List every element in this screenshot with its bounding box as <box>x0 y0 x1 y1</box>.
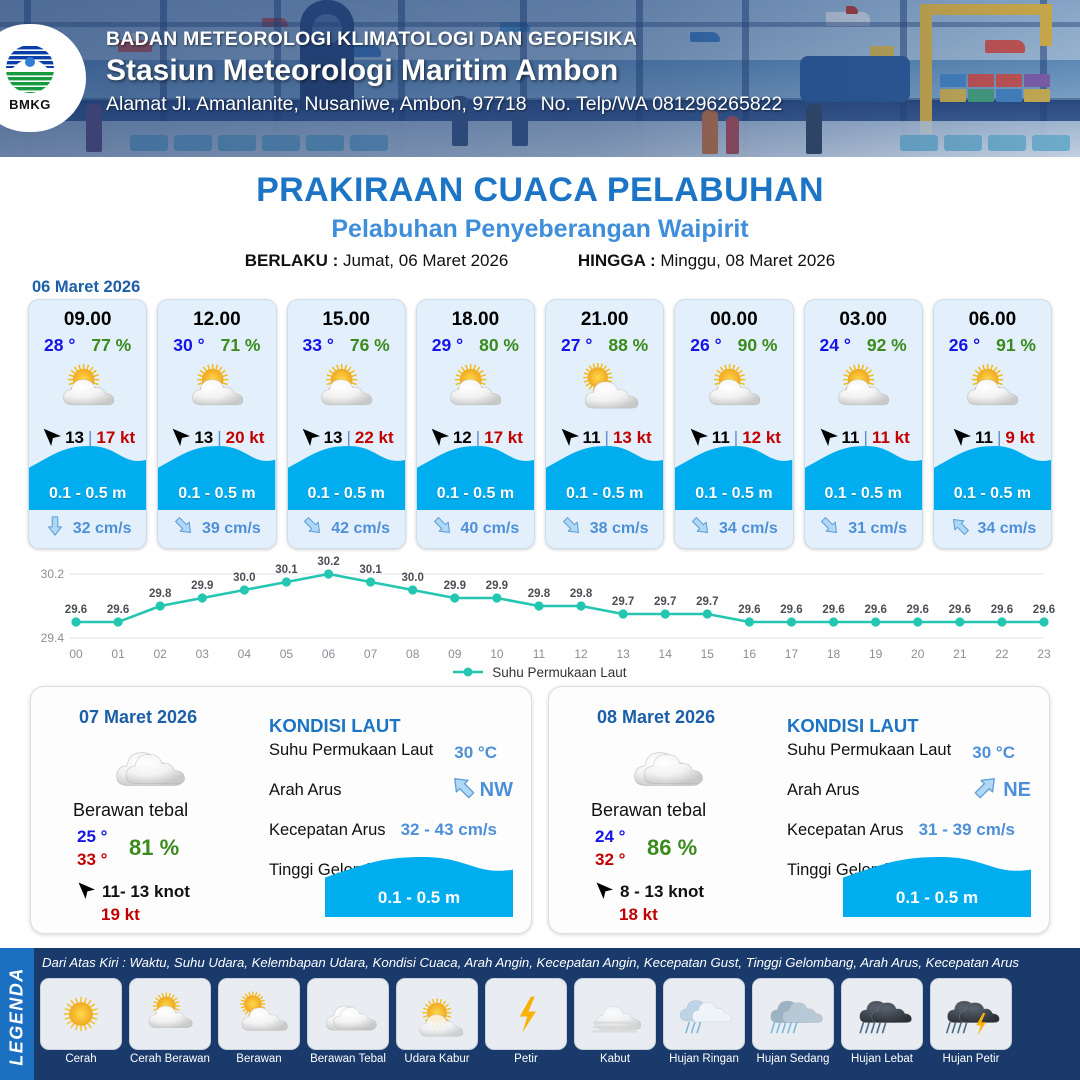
hourly-humidity: 76 % <box>350 335 390 356</box>
hourly-card: 00.0026 °90 %11|12 kt0.1 - 0.5 m34 cm/s <box>674 299 793 549</box>
kabut-icon <box>574 978 656 1050</box>
page-title: PRAKIRAAN CUACA PELABUHAN <box>0 171 1080 210</box>
legend-item-list: CerahCerah BerawanBerawanBerawan TebalUd… <box>40 978 1076 1078</box>
page-subtitle: Pelabuhan Penyeberangan Waipirit <box>0 215 1080 244</box>
chart-data-point <box>1039 617 1048 626</box>
hourly-temperature: 29 ° <box>432 335 463 356</box>
daily-temp-min: 25 ° <box>77 827 107 847</box>
hourly-time: 06.00 <box>934 309 1051 331</box>
chart-point-label: 29.6 <box>107 604 129 616</box>
legend-item: Hujan Ringan <box>663 978 745 1078</box>
chart-point-label: 29.8 <box>528 588 551 600</box>
daily-condition: Berawan tebal <box>591 800 706 821</box>
chart-x-tick: 03 <box>196 647 210 661</box>
chart-data-point <box>492 593 501 602</box>
cerah-berawan-icon <box>158 359 275 419</box>
chart-data-point <box>703 609 712 618</box>
current-direction-arrow-icon <box>432 515 454 542</box>
berawan-tebal-icon <box>307 978 389 1050</box>
daily-humidity: 81 % <box>129 835 179 861</box>
chart-x-tick: 20 <box>911 647 925 661</box>
hourly-current-speed: 38 cm/s <box>590 520 649 538</box>
cerah-berawan-icon <box>417 359 534 419</box>
station-name: Stasiun Meteorologi Maritim Ambon <box>106 54 782 88</box>
wave-graphic: 0.1 - 0.5 m <box>805 444 922 510</box>
daily-wave-graphic: 0.1 - 0.5 m <box>843 855 1031 917</box>
chart-x-tick: 22 <box>995 647 1009 661</box>
chart-data-point <box>576 601 585 610</box>
hourly-current: 42 cm/s <box>288 515 405 542</box>
current-direction-arrow-icon <box>173 515 195 542</box>
chart-x-tick: 21 <box>953 647 967 661</box>
hourly-forecast-row: 09.0028 °77 %13|17 kt0.1 - 0.5 m32 cm/s1… <box>28 299 1052 549</box>
chart-legend-label: Suhu Permukaan Laut <box>492 665 626 680</box>
hourly-card: 18.0029 °80 %12|17 kt0.1 - 0.5 m40 cm/s <box>416 299 535 549</box>
cerah-berawan-icon <box>934 359 1051 419</box>
chart-point-label: 29.6 <box>822 604 844 616</box>
chart-x-tick: 04 <box>238 647 252 661</box>
daily-forecast-row: 07 Maret 2026Berawan tebal25 °33 °81 %11… <box>30 686 1050 934</box>
hourly-current: 38 cm/s <box>546 515 663 542</box>
hourly-time: 12.00 <box>158 309 275 331</box>
legend-item: Hujan Sedang <box>752 978 834 1078</box>
chart-data-point <box>745 617 754 626</box>
chart-point-label: 29.6 <box>907 604 929 616</box>
hourly-wave-height: 0.1 - 0.5 m <box>288 485 405 503</box>
hourly-wave-height: 0.1 - 0.5 m <box>934 485 1051 503</box>
chart-data-point <box>113 617 122 626</box>
chart-point-label: 29.9 <box>444 580 466 592</box>
chart-point-label: 29.8 <box>149 588 172 600</box>
chart-data-point <box>955 617 964 626</box>
header-text-block: BADAN METEOROLOGI KLIMATOLOGI DAN GEOFIS… <box>106 28 782 116</box>
hourly-card: 06.0026 °91 %11|9 kt0.1 - 0.5 m34 cm/s <box>933 299 1052 549</box>
valid-to-value: Minggu, 08 Maret 2026 <box>660 251 835 270</box>
current-direction-arrow-icon <box>690 515 712 542</box>
hourly-card: 03.0024 °92 %11|11 kt0.1 - 0.5 m31 cm/s <box>804 299 923 549</box>
daily-condition: Berawan tebal <box>73 800 188 821</box>
chart-x-tick: 23 <box>1037 647 1051 661</box>
chart-y-tick: 30.2 <box>41 567 65 581</box>
chart-point-label: 29.6 <box>1033 604 1055 616</box>
cerah-berawan-icon <box>805 359 922 419</box>
legend-item: Berawan Tebal <box>307 978 389 1078</box>
hourly-temperature: 26 ° <box>690 335 721 356</box>
wave-graphic: 0.1 - 0.5 m <box>288 444 405 510</box>
hourly-time: 18.00 <box>417 309 534 331</box>
hourly-wave-height: 0.1 - 0.5 m <box>675 485 792 503</box>
cerah-berawan-icon <box>129 978 211 1050</box>
hourly-temperature: 33 ° <box>303 335 334 356</box>
chart-data-point <box>871 617 880 626</box>
hourly-wave-height: 0.1 - 0.5 m <box>546 485 663 503</box>
legend-item-label: Udara Kabur <box>396 1053 478 1065</box>
chart-x-tick: 06 <box>322 647 336 661</box>
daily-forecast-card: 07 Maret 2026Berawan tebal25 °33 °81 %11… <box>30 686 532 934</box>
hourly-current: 34 cm/s <box>934 515 1051 542</box>
chart-x-tick: 12 <box>574 647 588 661</box>
legend-item-label: Berawan <box>218 1053 300 1065</box>
legend-item-label: Cerah Berawan <box>129 1053 211 1065</box>
current-direction-arrow-icon <box>302 515 324 542</box>
daily-gust: 19 kt <box>101 905 140 925</box>
current-direction-arrow-icon <box>449 773 477 807</box>
cerah-berawan-icon <box>29 359 146 419</box>
chart-point-label: 29.6 <box>864 604 886 616</box>
chart-data-point <box>198 593 207 602</box>
current-direction-value: NW <box>480 779 513 802</box>
chart-data-point <box>829 617 838 626</box>
berawan-tebal-icon <box>621 735 707 791</box>
chart-x-tick: 09 <box>448 647 462 661</box>
chart-legend: Suhu Permukaan Laut <box>0 665 1080 681</box>
chart-x-tick: 15 <box>701 647 715 661</box>
chart-point-label: 29.6 <box>780 604 802 616</box>
daily-wind-speed: 11- 13 knot <box>102 882 190 902</box>
hourly-wave-height: 0.1 - 0.5 m <box>805 485 922 503</box>
hourly-current-speed: 31 cm/s <box>848 520 907 538</box>
hourly-current: 32 cm/s <box>29 515 146 542</box>
chart-data-point <box>534 601 543 610</box>
daily-date: 07 Maret 2026 <box>79 707 197 728</box>
current-direction-arrow-icon <box>819 515 841 542</box>
daily-date: 08 Maret 2026 <box>597 707 715 728</box>
hourly-card: 15.0033 °76 %13|22 kt0.1 - 0.5 m42 cm/s <box>287 299 406 549</box>
chart-x-tick: 11 <box>533 647 546 661</box>
chart-data-point <box>619 609 628 618</box>
chart-point-label: 29.6 <box>65 604 87 616</box>
daily-wave-height: 0.1 - 0.5 m <box>325 888 513 908</box>
chart-legend-marker <box>453 666 483 681</box>
station-contact-line: Alamat Jl. Amanlanite, Nusaniwe, Ambon, … <box>106 93 782 116</box>
hourly-temperature: 27 ° <box>561 335 592 356</box>
hourly-wave-height: 0.1 - 0.5 m <box>29 485 146 503</box>
hujan-sedang-icon <box>752 978 834 1050</box>
legend-item-label: Cerah <box>40 1053 122 1065</box>
udara-kabur-icon <box>396 978 478 1050</box>
sst-label: Suhu Permukaan Laut <box>269 741 433 760</box>
current-speed-label: Kecepatan Arus <box>269 821 386 840</box>
current-speed-value: 32 - 43 cm/s <box>401 820 497 840</box>
valid-from-label: BERLAKU : <box>245 251 339 270</box>
chart-x-tick: 18 <box>827 647 841 661</box>
wave-graphic: 0.1 - 0.5 m <box>675 444 792 510</box>
chart-x-tick: 00 <box>69 647 83 661</box>
hourly-current: 31 cm/s <box>805 515 922 542</box>
chart-data-point <box>71 617 80 626</box>
legend-item: Cerah <box>40 978 122 1078</box>
legend-item: Berawan <box>218 978 300 1078</box>
wave-graphic: 0.1 - 0.5 m <box>934 444 1051 510</box>
hourly-time: 03.00 <box>805 309 922 331</box>
hourly-date-label: 06 Maret 2026 <box>32 278 140 297</box>
hourly-wave-height: 0.1 - 0.5 m <box>158 485 275 503</box>
sst-value: 30 °C <box>454 743 497 763</box>
current-direction-arrow-icon <box>949 515 971 542</box>
legend-side-label: LEGENDA <box>7 951 28 1083</box>
sea-condition-title: KONDISI LAUT <box>787 715 919 737</box>
hourly-current: 34 cm/s <box>675 515 792 542</box>
chart-point-label: 29.7 <box>612 596 634 608</box>
daily-wind: 11- 13 knot <box>75 879 190 904</box>
station-address: Alamat Jl. Amanlanite, Nusaniwe, Ambon, … <box>106 93 527 115</box>
wind-direction-arrow-icon <box>593 879 613 904</box>
sst-chart: 30.229.429.60029.60129.80229.90330.00430… <box>18 556 1062 676</box>
legend-item-label: Hujan Ringan <box>663 1053 745 1065</box>
legend-item: Petir <box>485 978 567 1078</box>
berawan-icon <box>546 359 663 419</box>
chart-line-series <box>76 574 1044 622</box>
hourly-temperature: 24 ° <box>820 335 851 356</box>
sst-value: 30 °C <box>972 743 1015 763</box>
valid-to-label: HINGGA : <box>578 251 656 270</box>
hourly-humidity: 71 % <box>221 335 261 356</box>
current-speed-label: Kecepatan Arus <box>787 821 904 840</box>
chart-data-point <box>450 593 459 602</box>
hourly-current-speed: 32 cm/s <box>73 520 132 538</box>
hourly-current: 40 cm/s <box>417 515 534 542</box>
daily-wind: 8 - 13 knot <box>593 879 704 904</box>
legend-caption: Dari Atas Kiri : Waktu, Suhu Udara, Kele… <box>42 955 1019 970</box>
valid-from-value: Jumat, 06 Maret 2026 <box>343 251 508 270</box>
chart-point-label: 29.6 <box>949 604 971 616</box>
validity-line: BERLAKU : Jumat, 06 Maret 2026 HINGGA : … <box>0 251 1080 271</box>
hourly-time: 09.00 <box>29 309 146 331</box>
hourly-humidity: 80 % <box>479 335 519 356</box>
cerah-icon <box>40 978 122 1050</box>
chart-x-tick: 17 <box>785 647 799 661</box>
agency-name: BADAN METEOROLOGI KLIMATOLOGI DAN GEOFIS… <box>106 28 782 51</box>
hourly-humidity: 92 % <box>867 335 907 356</box>
cerah-berawan-icon <box>288 359 405 419</box>
current-direction-value-group: NE <box>972 773 1031 807</box>
hourly-card: 21.0027 °88 %11|13 kt0.1 - 0.5 m38 cm/s <box>545 299 664 549</box>
legend-panel: LEGENDA Dari Atas Kiri : Waktu, Suhu Uda… <box>0 948 1080 1080</box>
current-direction-arrow-icon <box>44 515 66 542</box>
chart-point-label: 30.0 <box>402 572 424 584</box>
chart-point-label: 30.1 <box>275 564 298 576</box>
chart-point-label: 29.9 <box>191 580 213 592</box>
hourly-temperature: 28 ° <box>44 335 75 356</box>
hourly-temperature: 26 ° <box>949 335 980 356</box>
wind-direction-arrow-icon <box>75 879 95 904</box>
hourly-humidity: 88 % <box>608 335 648 356</box>
daily-temp-max: 32 ° <box>595 850 625 870</box>
hourly-current-speed: 34 cm/s <box>978 520 1037 538</box>
sea-condition-title: KONDISI LAUT <box>269 715 401 737</box>
chart-point-label: 30.1 <box>359 564 382 576</box>
legend-item: Cerah Berawan <box>129 978 211 1078</box>
hourly-humidity: 77 % <box>91 335 131 356</box>
daily-gust: 18 kt <box>619 905 658 925</box>
hourly-card: 12.0030 °71 %13|20 kt0.1 - 0.5 m39 cm/s <box>157 299 276 549</box>
daily-forecast-card: 08 Maret 2026Berawan tebal24 °32 °86 %8 … <box>548 686 1050 934</box>
hourly-current-speed: 39 cm/s <box>202 520 261 538</box>
chart-x-tick: 13 <box>616 647 630 661</box>
chart-point-label: 29.7 <box>654 596 676 608</box>
wave-graphic: 0.1 - 0.5 m <box>546 444 663 510</box>
chart-x-tick: 16 <box>743 647 757 661</box>
current-direction-arrow-icon <box>561 515 583 542</box>
hujan-lebat-icon <box>841 978 923 1050</box>
chart-x-tick: 05 <box>280 647 294 661</box>
daily-temp-max: 33 ° <box>77 850 107 870</box>
chart-x-tick: 07 <box>364 647 378 661</box>
chart-data-point <box>661 609 670 618</box>
hourly-card: 09.0028 °77 %13|17 kt0.1 - 0.5 m32 cm/s <box>28 299 147 549</box>
hourly-temperature: 30 ° <box>173 335 204 356</box>
berawan-icon <box>218 978 300 1050</box>
chart-data-point <box>366 577 375 586</box>
hourly-time: 00.00 <box>675 309 792 331</box>
chart-x-tick: 14 <box>659 647 673 661</box>
bmkg-logo-text: BMKG <box>9 97 51 112</box>
hourly-time: 15.00 <box>288 309 405 331</box>
cerah-berawan-icon <box>675 359 792 419</box>
chart-data-point <box>282 577 291 586</box>
hourly-current-speed: 34 cm/s <box>719 520 778 538</box>
chart-data-point <box>913 617 922 626</box>
hourly-current-speed: 40 cm/s <box>461 520 520 538</box>
legend-item-label: Berawan Tebal <box>307 1053 389 1065</box>
chart-point-label: 30.0 <box>233 572 255 584</box>
current-direction-arrow-icon <box>972 773 1000 807</box>
hourly-humidity: 90 % <box>738 335 778 356</box>
hourly-current-speed: 42 cm/s <box>331 520 390 538</box>
chart-x-tick: 02 <box>153 647 167 661</box>
chart-data-point <box>240 585 249 594</box>
daily-wave-height: 0.1 - 0.5 m <box>843 888 1031 908</box>
chart-point-label: 29.8 <box>570 588 593 600</box>
legend-side-banner: LEGENDA <box>0 948 34 1080</box>
current-speed-value: 31 - 39 cm/s <box>919 820 1015 840</box>
daily-wave-graphic: 0.1 - 0.5 m <box>325 855 513 917</box>
current-direction-value-group: NW <box>449 773 513 807</box>
chart-x-tick: 08 <box>406 647 420 661</box>
daily-humidity: 86 % <box>647 835 697 861</box>
chart-point-label: 30.2 <box>317 556 339 568</box>
legend-item-label: Kabut <box>574 1053 656 1065</box>
legend-item-label: Hujan Lebat <box>841 1053 923 1065</box>
chart-x-tick: 10 <box>490 647 504 661</box>
petir-icon <box>485 978 567 1050</box>
legend-item: Kabut <box>574 978 656 1078</box>
daily-temp-min: 24 ° <box>595 827 625 847</box>
current-direction-label: Arah Arus <box>787 781 859 800</box>
legend-item-label: Hujan Petir <box>930 1053 1012 1065</box>
daily-wind-speed: 8 - 13 knot <box>620 882 704 902</box>
hujan-ringan-icon <box>663 978 745 1050</box>
legend-item-label: Hujan Sedang <box>752 1053 834 1065</box>
chart-data-point <box>408 585 417 594</box>
legend-item: Udara Kabur <box>396 978 478 1078</box>
chart-data-point <box>787 617 796 626</box>
hourly-current: 39 cm/s <box>158 515 275 542</box>
hourly-time: 21.00 <box>546 309 663 331</box>
chart-y-tick: 29.4 <box>41 631 65 645</box>
wave-graphic: 0.1 - 0.5 m <box>29 444 146 510</box>
station-phone: No. Telp/WA 081296265822 <box>541 93 783 115</box>
wave-graphic: 0.1 - 0.5 m <box>417 444 534 510</box>
legend-item-label: Petir <box>485 1053 567 1065</box>
current-direction-value: NE <box>1003 779 1031 802</box>
hourly-wave-height: 0.1 - 0.5 m <box>417 485 534 503</box>
legend-item: Hujan Petir <box>930 978 1012 1078</box>
chart-point-label: 29.7 <box>696 596 718 608</box>
chart-data-point <box>997 617 1006 626</box>
chart-data-point <box>156 601 165 610</box>
chart-point-label: 29.9 <box>486 580 508 592</box>
hujan-petir-icon <box>930 978 1012 1050</box>
chart-point-label: 29.6 <box>991 604 1013 616</box>
chart-x-tick: 19 <box>869 647 883 661</box>
chart-data-point <box>324 569 333 578</box>
berawan-tebal-icon <box>103 735 189 791</box>
sst-label: Suhu Permukaan Laut <box>787 741 951 760</box>
current-direction-label: Arah Arus <box>269 781 341 800</box>
chart-x-tick: 01 <box>111 647 125 661</box>
wave-graphic: 0.1 - 0.5 m <box>158 444 275 510</box>
legend-item: Hujan Lebat <box>841 978 923 1078</box>
bmkg-logo-mark <box>3 44 57 96</box>
hourly-humidity: 91 % <box>996 335 1036 356</box>
page-header: BMKG BADAN METEOROLOGI KLIMATOLOGI DAN G… <box>0 0 1080 157</box>
chart-point-label: 29.6 <box>738 604 760 616</box>
